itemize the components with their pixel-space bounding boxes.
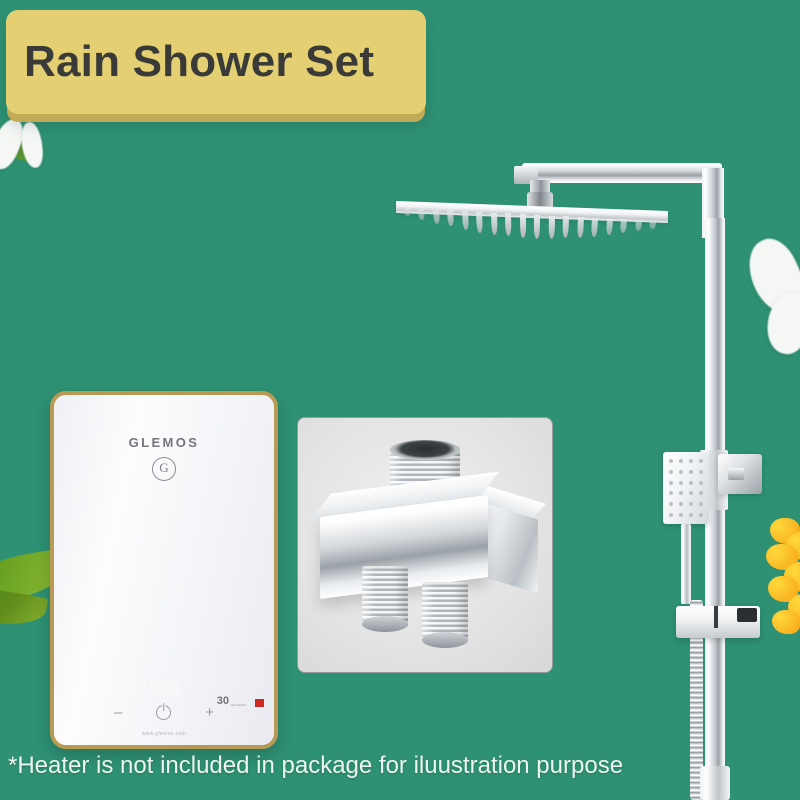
hand-shower-nozzle bbox=[699, 502, 703, 506]
heater-logo-icon: G bbox=[152, 457, 176, 481]
hand-shower-nozzle bbox=[679, 459, 683, 463]
slide-bar-holder-slot bbox=[714, 606, 718, 628]
hand-shower-nozzle bbox=[679, 481, 683, 485]
heater-control-row: – + bbox=[54, 705, 274, 720]
rain-shower-nozzle bbox=[534, 215, 540, 239]
hand-shower-nozzle bbox=[669, 491, 673, 495]
hand-shower-nozzle bbox=[669, 513, 673, 517]
rain-shower-nozzle bbox=[620, 219, 627, 233]
hand-shower-nozzle bbox=[669, 502, 673, 506]
heater-power-icon[interactable] bbox=[156, 705, 171, 720]
rain-shower-nozzle bbox=[605, 219, 612, 236]
hand-shower-nozzle bbox=[689, 481, 693, 485]
disclaimer-text: *Heater is not included in package for i… bbox=[8, 752, 623, 780]
hand-shower-nozzle bbox=[669, 470, 673, 474]
rain-shower-nozzle bbox=[462, 211, 469, 230]
rain-shower-nozzle bbox=[520, 214, 526, 238]
hand-shower-nozzle bbox=[699, 470, 703, 474]
hand-shower-nozzle bbox=[679, 502, 683, 506]
title-banner: Rain Shower Set bbox=[6, 10, 426, 114]
slide-bar-holder-lever bbox=[737, 608, 757, 622]
decor-flower-right-yellow bbox=[766, 518, 800, 636]
hand-shower-handle bbox=[681, 524, 691, 604]
rain-shower-nozzle bbox=[635, 220, 642, 231]
hand-shower-nozzle bbox=[689, 513, 693, 517]
hand-shower-nozzle bbox=[699, 481, 703, 485]
rain-shower-nozzle bbox=[548, 216, 554, 239]
heater-minus-button[interactable]: – bbox=[114, 705, 122, 720]
product-promo-image: GLEMOS G – + 30 SECONDS www.glemos.com bbox=[0, 0, 800, 800]
valve-bottom-right-port-rim bbox=[422, 632, 468, 648]
rain-shower-nozzle bbox=[591, 218, 598, 237]
riser-bottom-mount bbox=[700, 766, 730, 800]
valve-inset-card bbox=[297, 417, 553, 673]
rain-shower-nozzle bbox=[577, 217, 584, 238]
page-title: Rain Shower Set bbox=[24, 40, 374, 84]
heater-website-label: www.glemos.com bbox=[54, 731, 274, 737]
rain-shower-nozzle bbox=[505, 213, 511, 236]
heater-badge-subtext: SECONDS bbox=[231, 704, 253, 707]
shower-arm-horizontal bbox=[522, 163, 722, 183]
hand-shower-nozzle bbox=[689, 491, 693, 495]
hand-shower-nozzle bbox=[699, 459, 703, 463]
rain-shower-nozzle bbox=[491, 212, 498, 234]
hand-shower-nozzle bbox=[669, 481, 673, 485]
hand-shower-nozzle bbox=[679, 513, 683, 517]
hand-shower-head bbox=[663, 452, 709, 524]
heater-plus-button[interactable]: + bbox=[205, 705, 214, 720]
rain-shower-nozzle bbox=[433, 209, 440, 223]
hand-shower-nozzle bbox=[689, 459, 693, 463]
hand-shower-nozzle bbox=[699, 513, 703, 517]
valve-top-port-opening bbox=[390, 440, 460, 460]
hand-shower-nozzle bbox=[689, 502, 693, 506]
water-heater-unit: GLEMOS G – + 30 SECONDS www.glemos.com bbox=[50, 391, 278, 749]
hand-shower-nozzle-grid bbox=[667, 456, 705, 520]
heater-brand-label: GLEMOS bbox=[54, 435, 274, 450]
wall-bracket-knob bbox=[728, 468, 744, 480]
valve-photo bbox=[298, 418, 552, 672]
hand-shower-nozzle bbox=[699, 491, 703, 495]
hand-shower-nozzle bbox=[669, 459, 673, 463]
decor-petal-topleft-b bbox=[19, 121, 45, 169]
rain-shower-nozzle bbox=[649, 221, 656, 230]
valve-bottom-left-port-rim bbox=[362, 616, 408, 632]
heater-badge-number: 30 bbox=[217, 696, 229, 707]
heater-badge: 30 SECONDS bbox=[217, 696, 264, 707]
hand-shower-nozzle bbox=[679, 470, 683, 474]
heater-badge-mark bbox=[255, 699, 264, 707]
rain-shower-nozzle bbox=[562, 216, 569, 238]
hand-shower-nozzle bbox=[679, 491, 683, 495]
hand-shower-nozzle bbox=[689, 470, 693, 474]
heater-display bbox=[146, 679, 182, 698]
rain-shower-nozzle bbox=[404, 208, 411, 217]
water-heater-panel: GLEMOS G – + 30 SECONDS www.glemos.com bbox=[54, 395, 274, 745]
